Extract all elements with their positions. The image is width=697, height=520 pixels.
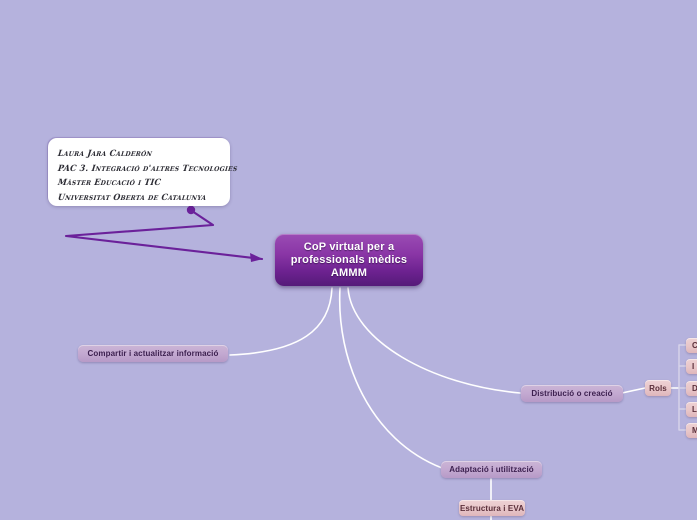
note-line-university: Universitat Oberta de Catalunya — [57, 189, 221, 205]
root-node-label: CoP virtual per a professionals mèdics A… — [281, 241, 417, 280]
branch-node-compartir[interactable]: Compartir i actualitzar informació — [78, 345, 228, 362]
branch-label-compartir: Compartir i actualitzar informació — [88, 349, 219, 358]
note-arrow — [66, 206, 263, 262]
root-node[interactable]: CoP virtual per a professionals mèdics A… — [275, 234, 423, 286]
connector-root-to-adaptacio — [340, 288, 442, 468]
branch-label-adaptacio: Adaptació i utilització — [449, 465, 534, 474]
leaf-node-rols[interactable]: Rols — [645, 380, 671, 396]
rols-child-node-4[interactable]: L — [686, 402, 697, 417]
rols-child-label-4: L — [692, 405, 697, 414]
connector-root-to-compartir — [230, 288, 332, 355]
note-line-program: Màster Educació i TIC — [57, 174, 221, 190]
branch-label-distribucio: Distribució o creació — [531, 389, 612, 398]
leaf-node-estructura-eva[interactable]: Estructura i EVA — [459, 500, 525, 516]
leaf-label-estructura-eva: Estructura i EVA — [460, 504, 524, 513]
connector-distribucio-to-rols — [622, 388, 645, 393]
rols-child-label-1: C — [692, 341, 697, 350]
rols-child-node-3[interactable]: D — [686, 381, 697, 396]
rols-child-label-2: I — [692, 362, 694, 371]
note-line-author: Laura Jara Calderón — [57, 145, 221, 161]
branch-node-distribucio[interactable]: Distribució o creació — [521, 385, 623, 402]
rols-child-node-2[interactable]: I — [686, 359, 697, 374]
rols-child-node-5[interactable]: M — [686, 423, 697, 438]
leaf-label-rols: Rols — [649, 384, 667, 393]
mindmap-canvas[interactable]: Laura Jara Calderón PAC 3. Integració d'… — [0, 0, 697, 520]
branch-node-adaptacio[interactable]: Adaptació i utilització — [441, 461, 542, 478]
rols-child-label-3: D — [692, 384, 697, 393]
author-note-card[interactable]: Laura Jara Calderón PAC 3. Integració d'… — [48, 138, 230, 206]
rols-child-label-5: M — [692, 426, 697, 435]
note-line-assignment: PAC 3. Integració d'altres Tecnologies — [57, 160, 221, 176]
connector-root-to-distribucio — [348, 288, 520, 393]
rols-child-node-1[interactable]: C — [686, 338, 697, 353]
